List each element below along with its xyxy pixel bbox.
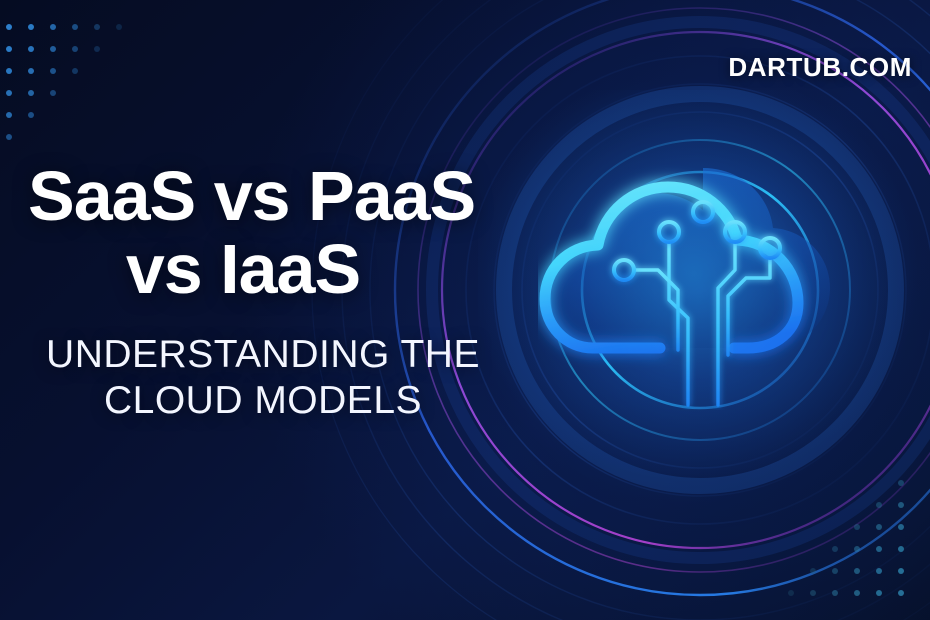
subtitle-line-2: CLOUD MODELS (28, 378, 498, 424)
site-logo[interactable]: DARTUB.COM (728, 52, 912, 83)
banner-root: DARTUB.COM SaaS vs PaaS vs IaaS UNDERSTA… (0, 0, 930, 620)
subtitle-line-1: UNDERSTANDING THE (28, 332, 498, 378)
title-line-2: vs IaaS (28, 233, 528, 306)
cloud-body-fill (542, 168, 830, 348)
page-title: SaaS vs PaaS vs IaaS (28, 160, 528, 306)
text-block: SaaS vs PaaS vs IaaS UNDERSTANDING THE C… (28, 160, 528, 424)
page-subtitle: UNDERSTANDING THE CLOUD MODELS (28, 332, 528, 424)
cloud-graphic (538, 150, 868, 410)
cloud-circuit-icon (538, 150, 868, 410)
title-line-1: SaaS vs PaaS (28, 160, 528, 233)
